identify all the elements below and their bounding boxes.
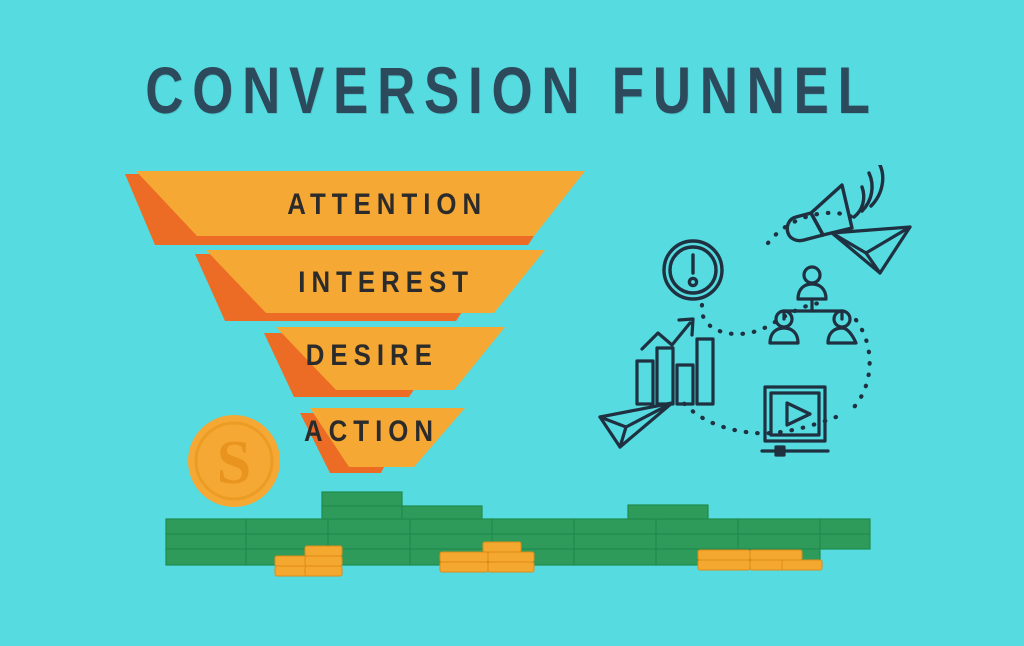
poster-canvas: CONVERSION FUNNEL [0,0,1024,641]
exclamation-circle-icon [664,241,722,299]
marketing-icons [580,165,920,470]
paper-plane-icon [600,403,672,447]
bar-chart-growth-icon [637,319,713,404]
money-tall-stack-a [322,492,402,519]
video-player-icon [762,387,828,455]
people-network-icon [770,267,856,343]
paper-plane-icon [832,227,910,273]
money-tall-stack-b [402,506,482,519]
money-tall-stack-c [628,505,708,519]
money-row-top [166,519,870,534]
